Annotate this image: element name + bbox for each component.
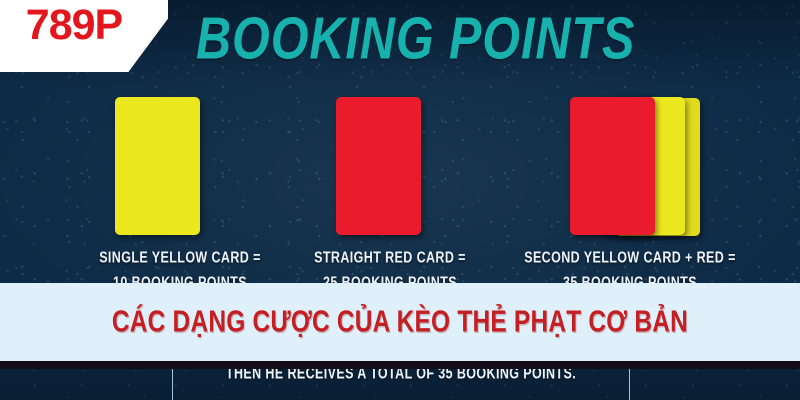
overlay-banner: CÁC DẠNG CƯỢC CỦA KÈO THẺ PHẠT CƠ BẢN [0,283,800,361]
overlay-banner-text: CÁC DẠNG CƯỢC CỦA KÈO THẺ PHẠT CƠ BẢN [112,304,688,339]
red-card [336,97,421,235]
red-card [570,97,655,235]
card-group-straight-red [336,97,422,235]
bottom-divider-strip [0,360,800,369]
infographic-canvas: 789P BOOKING POINTS SINGLE YELLOW CARD =… [0,0,800,400]
yellow-card [115,97,200,235]
card-group-second-yellow-plus-red [570,97,700,235]
caption-line-1: SINGLE YELLOW CARD = [99,249,261,267]
card-group-single-yellow [115,97,201,235]
caption-line-1: STRAIGHT RED CARD = [314,249,466,267]
caption-line-1: SECOND YELLOW CARD + RED = [524,249,736,267]
brand-logo-text: 789P [26,1,122,50]
